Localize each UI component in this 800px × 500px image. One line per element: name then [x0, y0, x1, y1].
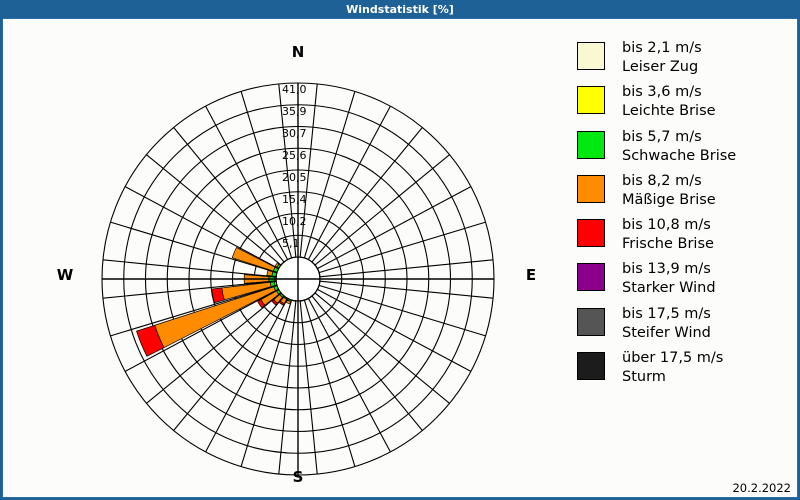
- radial-tick-label: 5,1: [282, 237, 300, 250]
- legend-item-name: Schwache Brise: [622, 147, 736, 166]
- legend-item-text: bis 8,2 m/sMäßige Brise: [622, 172, 716, 210]
- compass-label-east: E: [501, 266, 561, 284]
- chart-canvas: N S W E 5,110,215,420,525,630,735,941,0 …: [2, 18, 798, 498]
- compass-label-south: S: [268, 468, 328, 486]
- polar-axes: [102, 83, 494, 475]
- legend-item-text: über 17,5 m/sSturm: [622, 349, 723, 387]
- window-titlebar: Windstatistik [%]: [0, 0, 800, 18]
- grid-spoke: [319, 222, 486, 273]
- radial-tick-label: 41,0: [282, 83, 307, 96]
- legend-item-speed: über 17,5 m/s: [622, 349, 723, 368]
- legend-color-swatch: [577, 42, 605, 70]
- grid-spoke: [241, 300, 292, 467]
- radial-tick-label: 15,4: [282, 193, 307, 206]
- radial-tick-label: 25,6: [282, 149, 307, 162]
- windrose-petal-segment: [212, 288, 225, 303]
- windrose-plot: N S W E 5,110,215,420,525,630,735,941,0: [3, 19, 563, 497]
- legend-item-text: bis 17,5 m/sSteifer Wind: [622, 305, 711, 343]
- legend-item[interactable]: über 17,5 m/sSturm: [577, 349, 792, 387]
- legend-item-name: Sturm: [622, 368, 723, 387]
- radial-tick-label: 30,7: [282, 127, 307, 140]
- legend-item-speed: bis 10,8 m/s: [622, 216, 714, 235]
- legend-item-name: Mäßige Brise: [622, 191, 716, 210]
- legend-item[interactable]: bis 3,6 m/sLeichte Brise: [577, 83, 792, 121]
- legend-item-name: Frische Brise: [622, 235, 714, 254]
- legend: bis 2,1 m/sLeiser Zugbis 3,6 m/sLeichte …: [577, 39, 792, 393]
- legend-item-text: bis 2,1 m/sLeiser Zug: [622, 39, 702, 77]
- legend-item-name: Leiser Zug: [622, 58, 702, 77]
- legend-item-name: Leichte Brise: [622, 102, 716, 121]
- legend-item[interactable]: bis 8,2 m/sMäßige Brise: [577, 172, 792, 210]
- grid-spoke: [304, 91, 355, 258]
- legend-item-text: bis 13,9 m/sStarker Wind: [622, 260, 716, 298]
- window-title: Windstatistik [%]: [346, 3, 454, 16]
- windrose-petal-segment: [232, 248, 275, 272]
- legend-item-speed: bis 5,7 m/s: [622, 128, 736, 147]
- legend-item-speed: bis 13,9 m/s: [622, 260, 716, 279]
- radial-tick-label: 10,2: [282, 215, 307, 228]
- compass-label-west: W: [35, 266, 95, 284]
- legend-item[interactable]: bis 5,7 m/sSchwache Brise: [577, 128, 792, 166]
- radial-tick-label: 20,5: [282, 171, 307, 184]
- legend-item[interactable]: bis 2,1 m/sLeiser Zug: [577, 39, 792, 77]
- legend-item-name: Starker Wind: [622, 279, 716, 298]
- legend-color-swatch: [577, 308, 605, 336]
- radial-tick-label: 35,9: [282, 105, 307, 118]
- legend-item-text: bis 3,6 m/sLeichte Brise: [622, 83, 716, 121]
- legend-item-speed: bis 8,2 m/s: [622, 172, 716, 191]
- legend-item-text: bis 10,8 m/sFrische Brise: [622, 216, 714, 254]
- legend-item[interactable]: bis 17,5 m/sSteifer Wind: [577, 305, 792, 343]
- legend-color-swatch: [577, 86, 605, 114]
- compass-label-north: N: [268, 43, 328, 61]
- legend-color-swatch: [577, 263, 605, 291]
- grid-spoke: [304, 300, 355, 467]
- legend-color-swatch: [577, 219, 605, 247]
- legend-item[interactable]: bis 10,8 m/sFrische Brise: [577, 216, 792, 254]
- legend-item-name: Steifer Wind: [622, 324, 711, 343]
- legend-item-text: bis 5,7 m/sSchwache Brise: [622, 128, 736, 166]
- date-stamp: 20.2.2022: [732, 481, 791, 495]
- legend-color-swatch: [577, 352, 605, 380]
- grid-spoke: [319, 285, 486, 336]
- legend-item-speed: bis 3,6 m/s: [622, 83, 716, 102]
- legend-item-speed: bis 17,5 m/s: [622, 305, 711, 324]
- windrose-petal-segment: [267, 270, 273, 276]
- legend-color-swatch: [577, 175, 605, 203]
- legend-item[interactable]: bis 13,9 m/sStarker Wind: [577, 260, 792, 298]
- legend-color-swatch: [577, 131, 605, 159]
- grid-spoke: [110, 222, 277, 273]
- windrose-window: Windstatistik [%] N S W E 5,110,215,420,…: [0, 0, 800, 500]
- legend-item-speed: bis 2,1 m/s: [622, 39, 702, 58]
- windrose-petals: [137, 248, 292, 357]
